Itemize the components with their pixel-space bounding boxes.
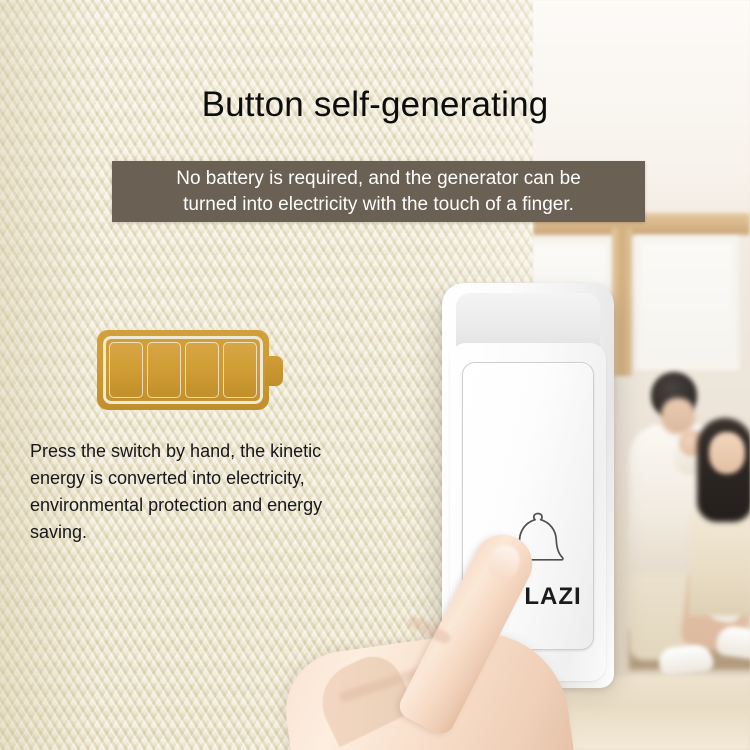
- photo-shoe-left: [658, 643, 715, 676]
- body-line-1: Press the switch by hand, the kinetic: [30, 438, 410, 465]
- fingertip-highlight: [483, 540, 525, 584]
- battery-body: [97, 330, 269, 410]
- battery-cell: [109, 342, 143, 398]
- battery-icon: [97, 330, 285, 410]
- battery-cell: [223, 342, 257, 398]
- body-line-2: energy is converted into electricity,: [30, 465, 410, 492]
- subtitle-banner-text: No battery is required, and the generato…: [112, 161, 645, 222]
- subtitle-banner: No battery is required, and the generato…: [112, 161, 645, 222]
- photo-man-face: [661, 398, 695, 434]
- battery-cell: [147, 342, 181, 398]
- battery-terminal: [265, 356, 283, 386]
- banner-line-2: turned into electricity with the touch o…: [183, 192, 574, 218]
- hand-pressing-button: [296, 520, 596, 750]
- page-title: Button self-generating: [0, 84, 750, 126]
- product-feature-image: Button self-generating No battery is req…: [0, 0, 750, 750]
- photo-window-right: [635, 236, 739, 370]
- body-line-3: environmental protection and energy: [30, 492, 410, 519]
- photo-girl-face: [709, 432, 745, 474]
- battery-cell: [185, 342, 219, 398]
- device-top-band: [456, 293, 600, 349]
- battery-cells: [103, 336, 263, 404]
- banner-line-1: No battery is required, and the generato…: [176, 166, 581, 192]
